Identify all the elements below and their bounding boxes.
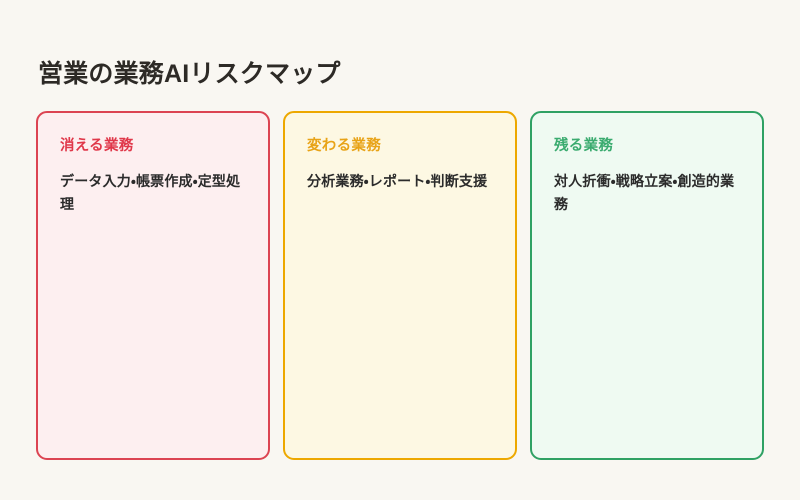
page-title: 営業の業務AIリスクマップ xyxy=(38,59,341,90)
risk-card-heading: 消える業務 xyxy=(60,137,134,156)
risk-map-page: 営業の業務AIリスクマップ 消える業務 データ入力・帳票作成・定型処理 変わる業… xyxy=(0,0,800,500)
risk-card-body: 対人折衝・戦略立案・創造的業務 xyxy=(554,170,740,215)
risk-card-body: 分析業務・レポート・判断支援 xyxy=(307,170,487,193)
risk-card-changing: 変わる業務 分析業務・レポート・判断支援 xyxy=(283,111,517,460)
risk-card-disappearing: 消える業務 データ入力・帳票作成・定型処理 xyxy=(36,111,270,460)
risk-card-remaining: 残る業務 対人折衝・戦略立案・創造的業務 xyxy=(530,111,764,460)
risk-card-heading: 残る業務 xyxy=(554,137,613,156)
risk-card-heading: 変わる業務 xyxy=(307,137,381,156)
risk-category-card-row: 消える業務 データ入力・帳票作成・定型処理 変わる業務 分析業務・レポート・判断… xyxy=(36,111,764,460)
risk-card-body: データ入力・帳票作成・定型処理 xyxy=(60,170,246,215)
